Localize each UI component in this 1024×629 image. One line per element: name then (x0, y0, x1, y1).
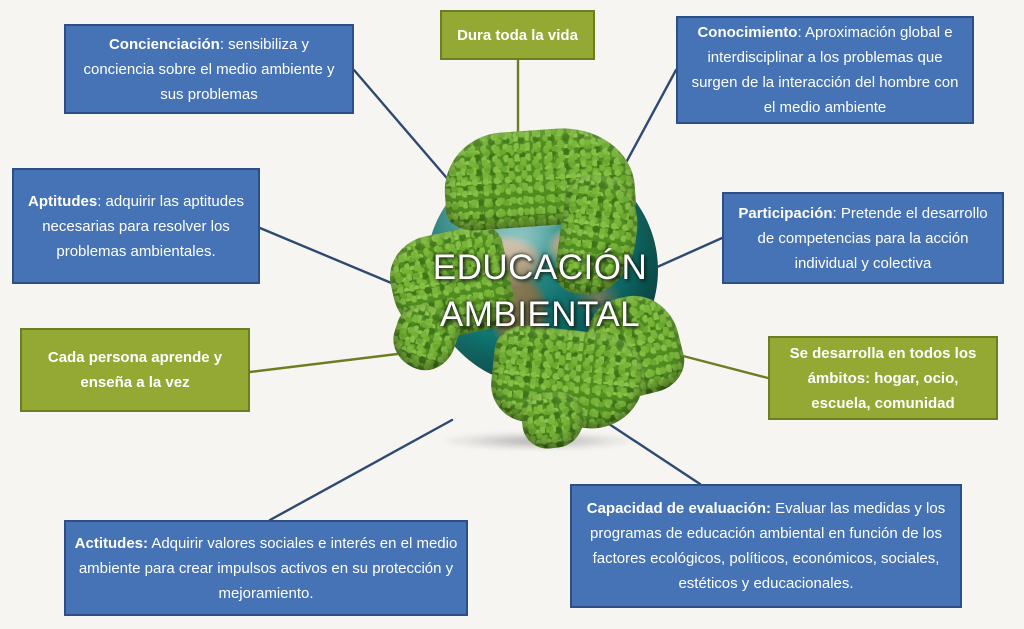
callout-concienciacion-text: Concienciación: sensibiliza y conciencia… (66, 32, 352, 107)
callout-aptitudes-text: Aptitudes: adquirir las aptitudes necesa… (14, 189, 258, 264)
callout-capacidad-de-evaluacion[interactable]: Capacidad de evaluación: Evaluar las med… (570, 484, 962, 608)
green-globe-recycling-image: EDUCACIÓN AMBIENTAL (392, 116, 688, 456)
callout-cada-persona-text: Cada persona aprende y enseña a la vez (22, 345, 248, 395)
callout-ambitos[interactable]: Se desarrolla en todos los ámbitos: hoga… (768, 336, 998, 420)
infographic-canvas: EDUCACIÓN AMBIENTAL Concienciación: sens… (0, 0, 1024, 629)
callout-dura-toda-la-vida-text: Dura toda la vida (442, 23, 593, 48)
callout-actitudes-text: Actitudes: Adquirir valores sociales e i… (66, 531, 466, 606)
callout-dura-toda-la-vida[interactable]: Dura toda la vida (440, 10, 595, 60)
callout-cada-persona[interactable]: Cada persona aprende y enseña a la vez (20, 328, 250, 412)
callout-participacion-text: Participación: Pretende el desarrollo de… (724, 201, 1002, 276)
callout-actitudes[interactable]: Actitudes: Adquirir valores sociales e i… (64, 520, 468, 616)
callout-conocimiento[interactable]: Conocimiento: Aproximación global e inte… (676, 16, 974, 124)
callout-ambitos-text: Se desarrolla en todos los ámbitos: hoga… (770, 341, 996, 416)
callout-participacion[interactable]: Participación: Pretende el desarrollo de… (722, 192, 1004, 284)
callout-capacidad-de-evaluacion-text: Capacidad de evaluación: Evaluar las med… (572, 496, 960, 596)
callout-conocimiento-text: Conocimiento: Aproximación global e inte… (678, 20, 972, 120)
callout-concienciacion[interactable]: Concienciación: sensibiliza y conciencia… (64, 24, 354, 114)
callout-aptitudes[interactable]: Aptitudes: adquirir las aptitudes necesa… (12, 168, 260, 284)
